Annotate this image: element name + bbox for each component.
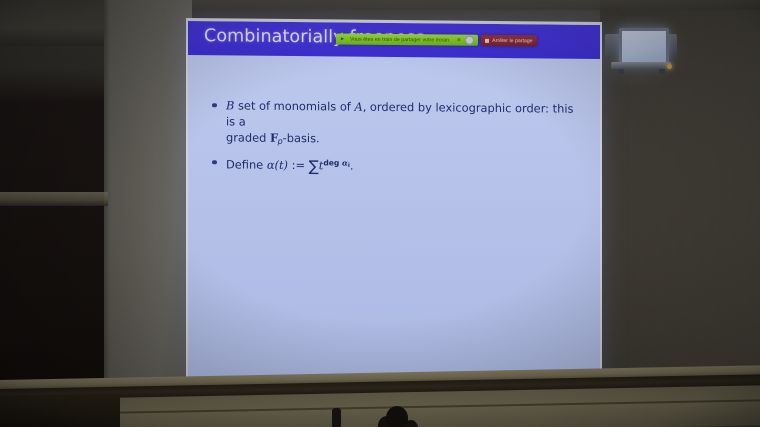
define-word: Define (226, 157, 267, 171)
symbol-alpha: α (267, 158, 275, 172)
exponent-deg: deg (323, 158, 342, 167)
laptop-foot-right (659, 69, 665, 74)
stop-sharing-label: Arrêter le partage (492, 37, 532, 43)
wainscot-left-shadow (0, 394, 120, 427)
audience-head-silhouette (386, 406, 408, 427)
slide-body: B set of monomials of A, ordered by lexi… (188, 55, 600, 387)
symbol-A: A (354, 100, 362, 114)
lecture-hall-scene: Combinatorially freeness B set of monomi… (0, 0, 760, 427)
projection-screen: Combinatorially freeness B set of monomi… (186, 18, 602, 390)
laptop-keyboard-base (611, 62, 671, 69)
bullet-basis-text: B set of monomials of A, ordered by lexi… (226, 97, 580, 152)
blackboard-F-symbol: F (270, 131, 278, 145)
slide-bullet-list: B set of monomials of A, ordered by lexi… (210, 97, 580, 182)
summation-sigma-icon: ∑ (309, 157, 319, 175)
projection-screen-surface: Combinatorially freeness B set of monomi… (188, 21, 600, 387)
left-dark-wall (0, 0, 104, 427)
bullet-basis-phrase-1: set of monomials of (234, 98, 354, 113)
close-icon[interactable]: ✕ (454, 37, 461, 43)
share-status-pill[interactable]: ▸ Vous êtes en train de partager votre é… (336, 33, 478, 45)
sentence-period: . (350, 159, 354, 173)
wall-pillar (100, 0, 192, 427)
presenter-laptop (605, 28, 677, 76)
left-wall-trim (0, 192, 108, 206)
share-options-button[interactable] (465, 36, 474, 45)
stop-sharing-button[interactable]: Arrêter le partage (481, 35, 536, 47)
bullet-basis-phrase-3: graded (226, 130, 270, 144)
bullet-basis-phrase-4: -basis. (283, 131, 320, 145)
presentation-slide: Combinatorially freeness B set of monomi… (188, 21, 600, 387)
laptop-screen (619, 28, 669, 66)
laptop-status-led-icon (667, 64, 672, 69)
laptop-foot-left (618, 69, 624, 74)
bullet-dot-icon (212, 103, 217, 108)
bullet-dot-icon (212, 160, 217, 165)
list-item: B set of monomials of A, ordered by lexi… (210, 97, 580, 153)
assign-operator: := (288, 158, 309, 172)
bullet-define-alpha-text: Define α(t) := ∑tdeg αi. (226, 154, 580, 176)
stop-square-icon (485, 38, 489, 42)
screen-share-icon: ▸ (339, 35, 346, 42)
share-status-text: Vous êtes en train de partager votre écr… (350, 36, 450, 43)
screen-share-notification[interactable]: ▸ Vous êtes en train de partager votre é… (336, 33, 537, 46)
water-bottle-silhouette (332, 408, 341, 427)
list-item: Define α(t) := ∑tdeg αi. (210, 154, 580, 177)
